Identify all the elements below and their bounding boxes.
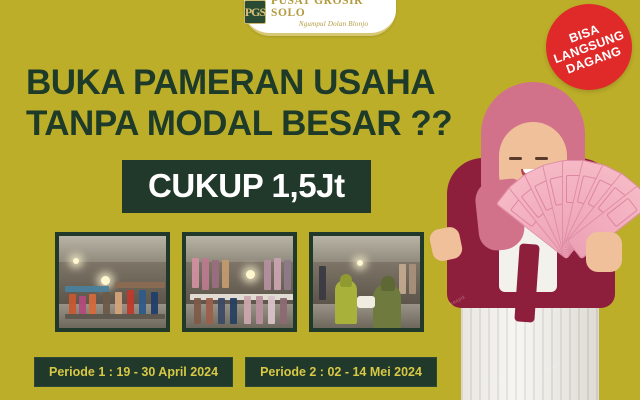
brand-logo: PGS PUSAT GROSIR SOLO Ngumpul Dolan Blon… (244, 0, 396, 36)
period-badge-2: Periode 2 : 02 - 14 Mei 2024 (245, 357, 437, 387)
period-badge-1: Periode 1 : 19 - 30 April 2024 (34, 357, 233, 387)
logo-monogram-text: PGS (245, 6, 265, 18)
model-photo: freepik freepik freepik (425, 55, 640, 400)
gallery-photo-3 (309, 232, 424, 332)
pgs-monogram-icon: PGS (244, 0, 266, 24)
gallery-photo-1 (55, 232, 170, 332)
period-list: Periode 1 : 19 - 30 April 2024 Periode 2… (34, 357, 437, 387)
promo-banner: PGS PUSAT GROSIR SOLO Ngumpul Dolan Blon… (0, 0, 640, 400)
photo-gallery (55, 232, 424, 332)
brand-tagline: Ngumpul Dolan Blonjo (299, 21, 368, 28)
gallery-photo-2 (182, 232, 297, 332)
brand-name: PUSAT GROSIR SOLO (271, 0, 396, 19)
price-callout: CUKUP 1,5Jt (122, 160, 371, 213)
